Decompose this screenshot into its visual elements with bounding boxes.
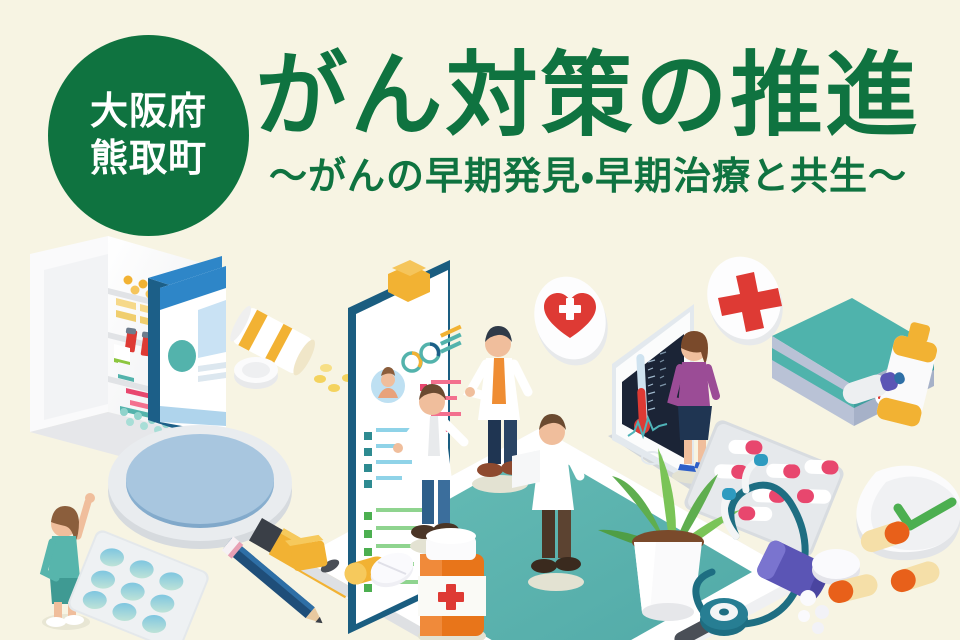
heart-badge bbox=[524, 267, 619, 375]
town-badge-town: 熊取町 bbox=[90, 137, 207, 182]
town-badge: 大阪府 熊取町 bbox=[48, 35, 249, 236]
title-block: がん対策の推進 〜がんの早期発見・早期治療と共生〜 bbox=[258, 50, 918, 196]
pill-bottle-striped bbox=[227, 304, 354, 392]
page-title: がん対策の推進 bbox=[256, 50, 921, 142]
web-page-card bbox=[148, 256, 226, 444]
cancer-measures-banner: 大阪府 熊取町 がん対策の推進 〜がんの早期発見・早期治療と共生〜 bbox=[0, 0, 960, 640]
town-badge-prefecture: 大阪府 bbox=[90, 90, 207, 135]
medical-illustration bbox=[0, 236, 960, 640]
orange-pill-bottle bbox=[418, 528, 486, 640]
page-subtitle: 〜がんの早期発見・早期治療と共生〜 bbox=[269, 158, 907, 196]
banner-header: 大阪府 熊取町 がん対策の推進 〜がんの早期発見・早期治療と共生〜 bbox=[0, 0, 960, 240]
